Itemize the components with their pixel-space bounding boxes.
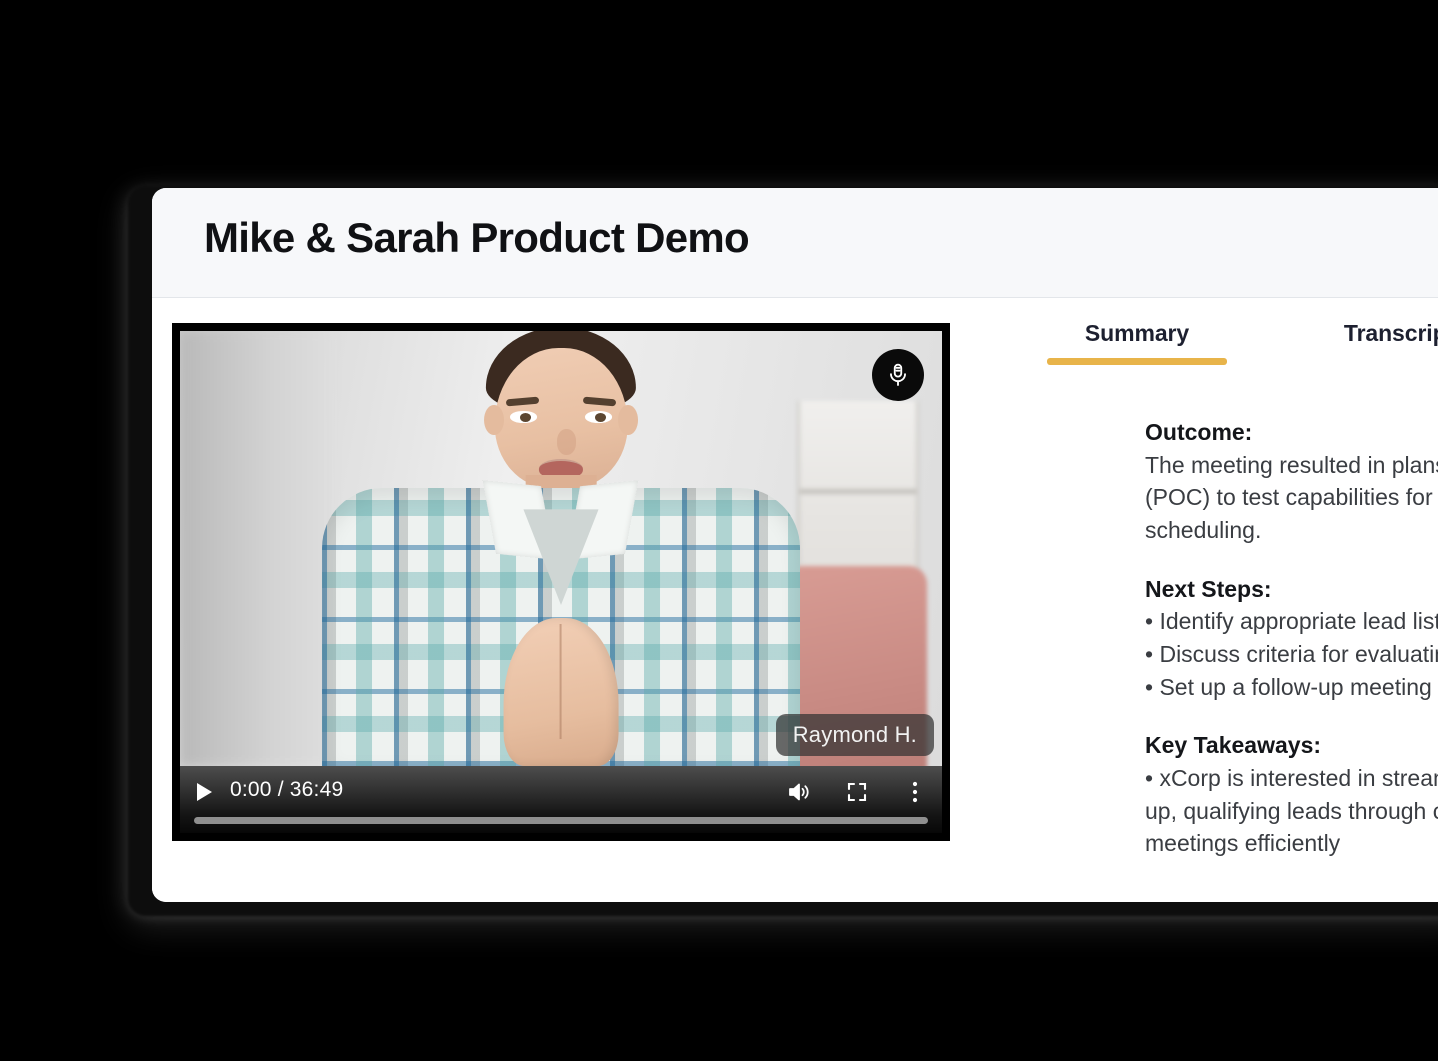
fullscreen-icon[interactable] (844, 779, 870, 805)
summary-content: Outcome: The meeting resulted in plans t… (1145, 416, 1438, 860)
summary-section-key-takeaways: Key Takeaways: • xCorp is interested in … (1145, 729, 1438, 860)
content-panel: Summary Transcript Follow Ou (970, 298, 1438, 902)
video-panel: Raymond H. 0:00 / 36:49 (172, 323, 950, 841)
participant-eye-left (510, 411, 537, 422)
content-tabs: Summary Transcript Follow (970, 314, 1438, 365)
video-viewport[interactable]: Raymond H. (180, 331, 942, 766)
volume-icon[interactable] (786, 779, 812, 805)
card-body: Raymond H. 0:00 / 36:49 (152, 298, 1438, 902)
section-bullet-list: Identify appropriate lead lists or chann… (1145, 605, 1438, 703)
video-controls-right-group (786, 779, 928, 805)
tab-summary-label: Summary (1085, 320, 1189, 346)
card-header: Mike & Sarah Product Demo (152, 188, 1438, 298)
section-paragraph: • xCorp is interested in streamlining in… (1145, 762, 1438, 860)
more-vertical-icon[interactable] (902, 779, 928, 805)
tab-transcript[interactable]: Transcript (1304, 314, 1438, 365)
video-background-wall (180, 331, 332, 766)
meeting-detail-card: Mike & Sarah Product Demo (152, 188, 1438, 902)
participant-hands (504, 618, 619, 766)
list-item: Discuss criteria for evaluating the succ… (1145, 638, 1438, 671)
list-item: Set up a follow-up meeting to review POC… (1145, 671, 1438, 704)
section-title: Next Steps: (1145, 573, 1438, 606)
video-participant-figure (340, 331, 782, 766)
summary-section-outcome: Outcome: The meeting resulted in plans t… (1145, 416, 1438, 547)
section-paragraph: The meeting resulted in plans to run a p… (1145, 449, 1438, 547)
summary-section-next-steps: Next Steps: Identify appropriate lead li… (1145, 573, 1438, 704)
page-title: Mike & Sarah Product Demo (204, 212, 749, 265)
participant-name-label: Raymond H. (776, 714, 934, 756)
video-player[interactable]: Raymond H. 0:00 / 36:49 (172, 323, 950, 841)
participant-ear-right (618, 405, 638, 435)
video-progress-bar[interactable] (194, 817, 928, 824)
tab-active-underline (1047, 358, 1227, 365)
screenshot-stage: Mike & Sarah Product Demo (0, 0, 1438, 1061)
section-title: Key Takeaways: (1145, 729, 1438, 762)
list-item: Identify appropriate lead lists or chann… (1145, 605, 1438, 638)
tab-transcript-label: Transcript (1344, 320, 1438, 346)
microphone-icon[interactable] (872, 349, 924, 401)
participant-nose (557, 429, 577, 455)
play-icon[interactable] (192, 780, 216, 804)
video-time-display: 0:00 / 36:49 (230, 778, 343, 802)
participant-ear-left (484, 405, 504, 435)
video-controls-bar: 0:00 / 36:49 (180, 766, 942, 833)
participant-eye-right (585, 411, 612, 422)
section-title: Outcome: (1145, 416, 1438, 449)
tab-summary[interactable]: Summary (970, 314, 1304, 365)
